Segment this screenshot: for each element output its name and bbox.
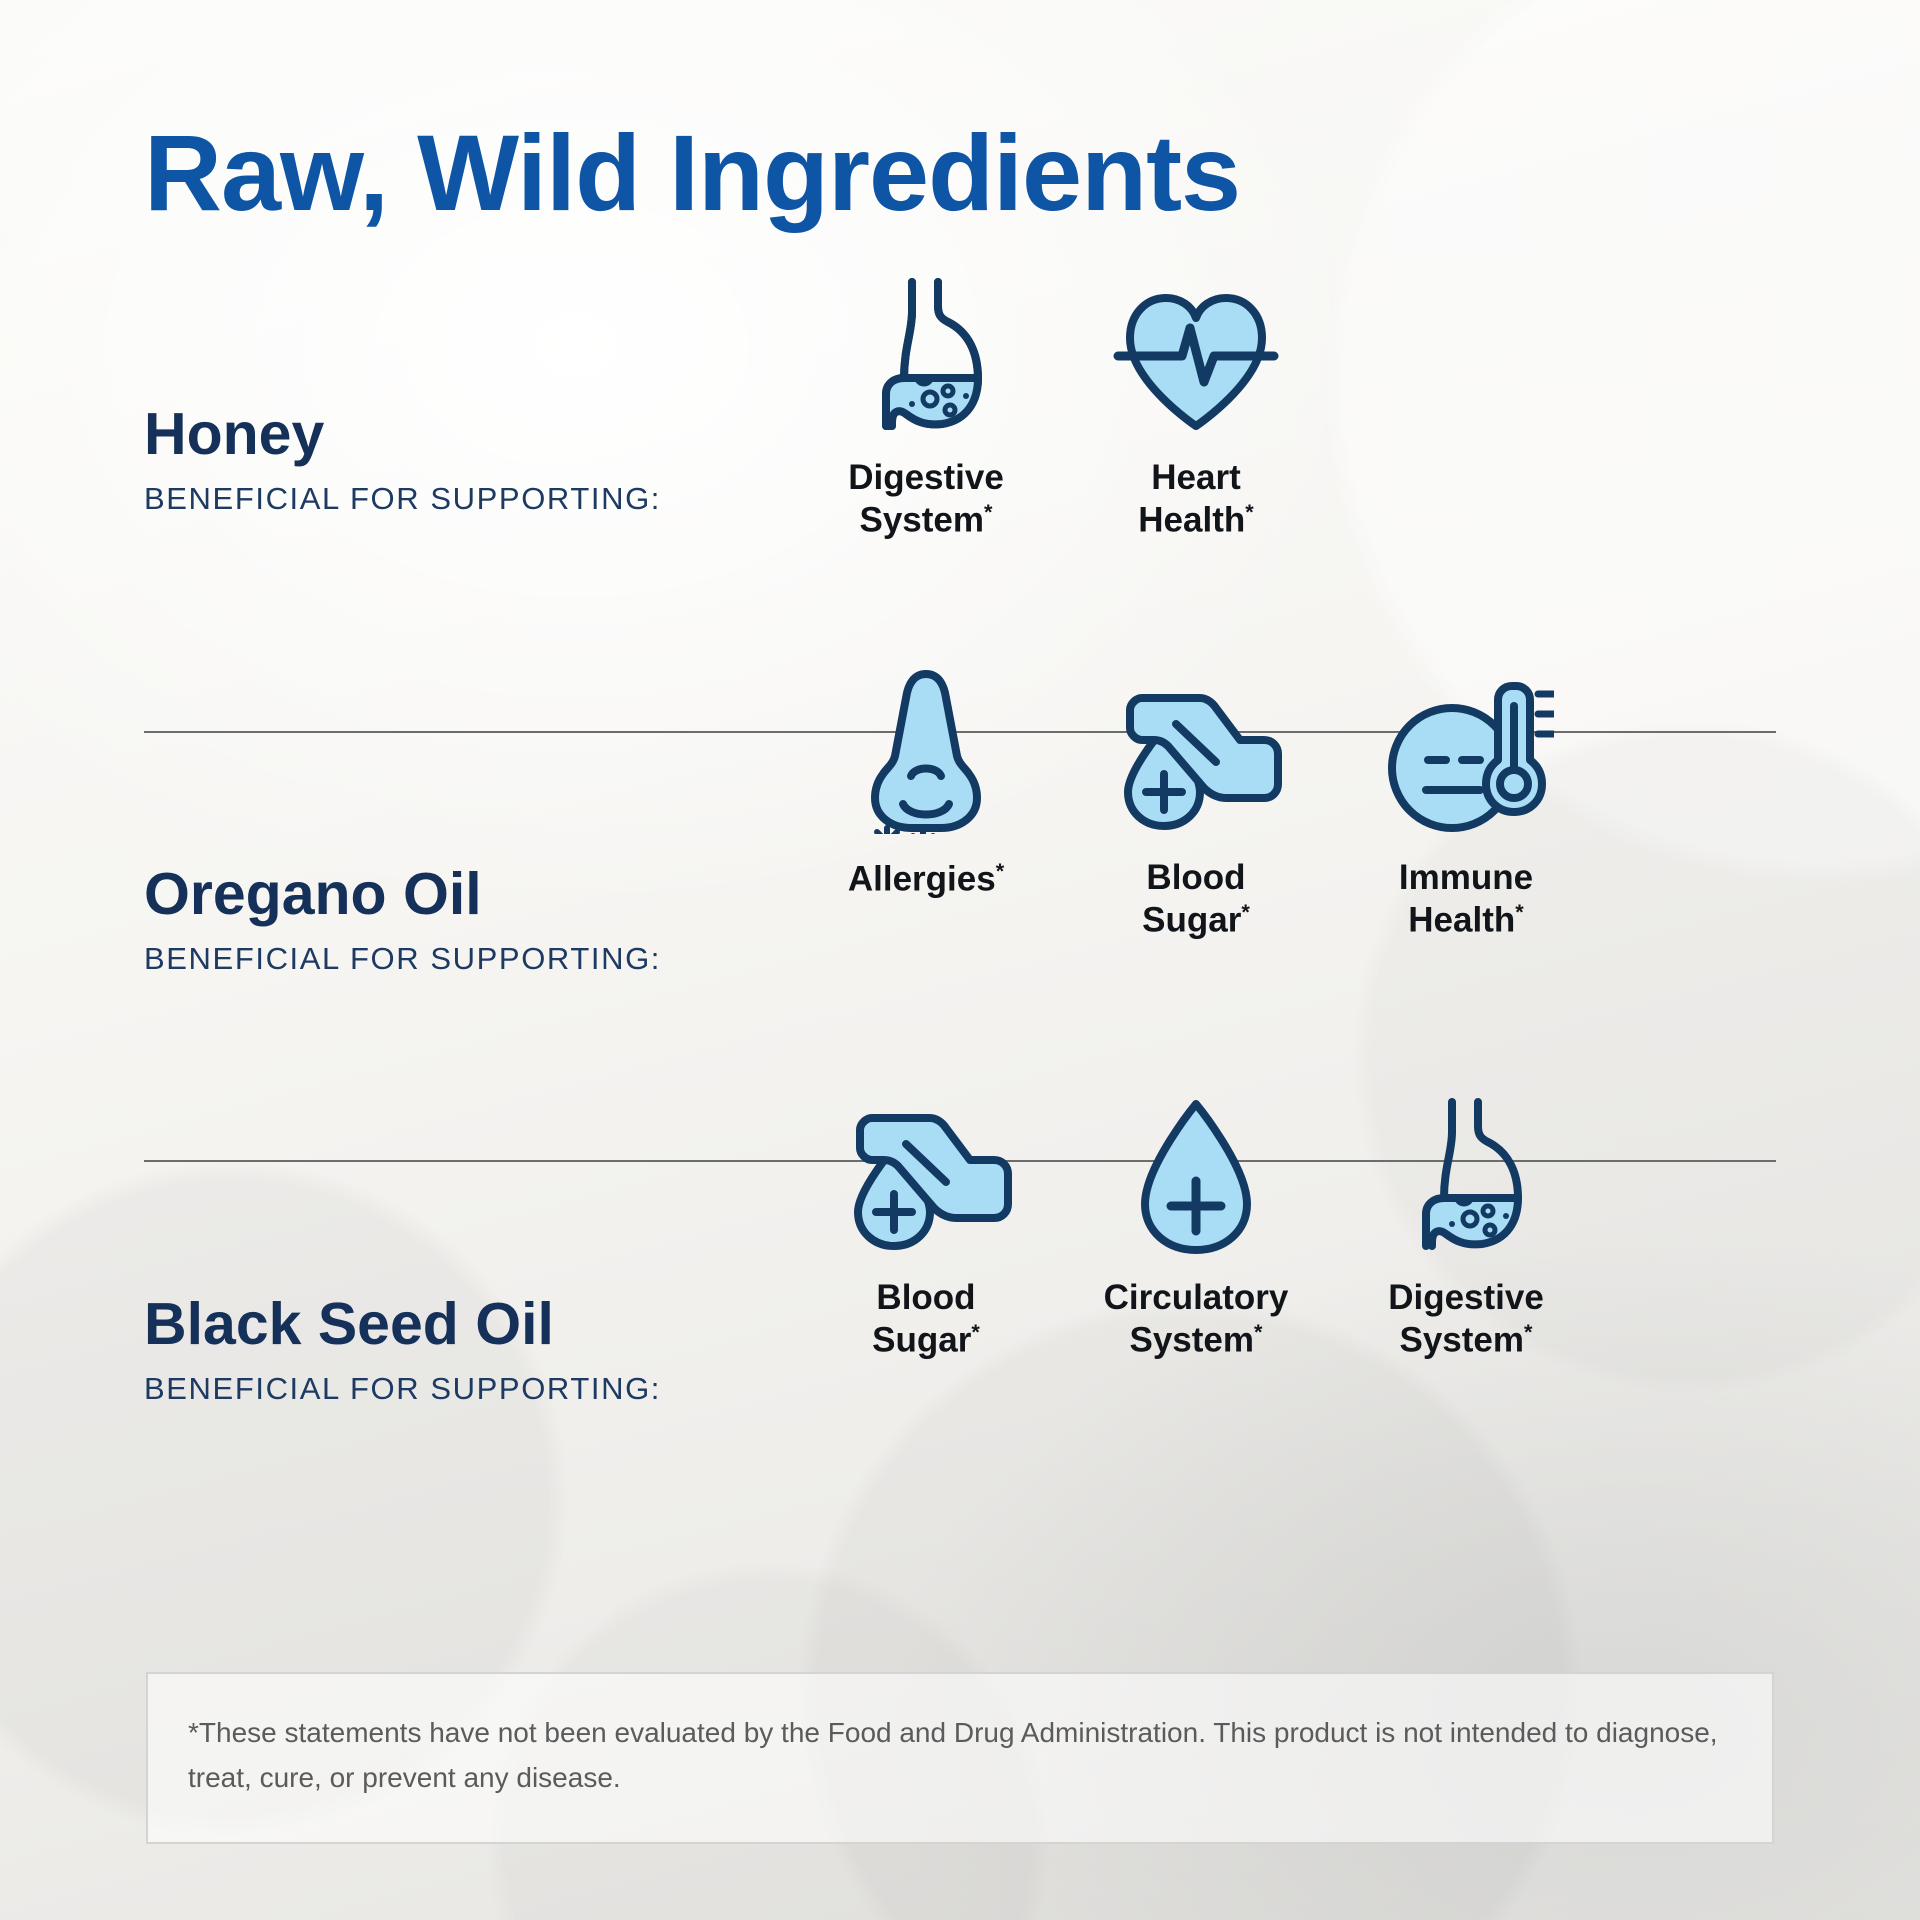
ingredient-subtitle-honey: BENEFICIAL FOR SUPPORTING:	[144, 481, 661, 517]
benefit-label: Digestive System*	[1388, 1278, 1544, 1361]
benefit-icons-black-seed-oil: Blood Sugar* Circulatory System*	[820, 1104, 1572, 1361]
heart-pulse-icon	[1112, 284, 1280, 434]
sick-face-thermometer-icon	[1378, 684, 1554, 834]
disclaimer-text: *These statements have not been evaluate…	[188, 1710, 1732, 1801]
benefit-icons-oregano-oil: Allergies* Blood Sugar*	[820, 684, 1572, 941]
stomach-icon	[856, 284, 996, 434]
disclaimer-box: *These statements have not been evaluate…	[146, 1672, 1774, 1844]
benefit-allergies: Allergies*	[820, 684, 1032, 900]
infographic-page: Raw, Wild Ingredients Honey BENEFICIAL F…	[0, 0, 1920, 1920]
ingredient-name-honey: Honey	[144, 402, 661, 467]
benefit-blood-sugar: Blood Sugar*	[820, 1104, 1032, 1361]
ingredient-block-oregano-oil: Oregano Oil BENEFICIAL FOR SUPPORTING:	[144, 862, 661, 977]
benefit-label: Heart Health*	[1138, 458, 1253, 541]
benefit-digestive-system: Digestive System*	[820, 284, 1032, 541]
benefit-label: Allergies*	[848, 858, 1004, 900]
ingredient-block-honey: Honey BENEFICIAL FOR SUPPORTING:	[144, 402, 661, 517]
blood-drop-plus-icon	[1131, 1104, 1261, 1254]
ingredient-subtitle-oregano-oil: BENEFICIAL FOR SUPPORTING:	[144, 941, 661, 977]
ingredient-name-black-seed-oil: Black Seed Oil	[144, 1292, 661, 1357]
benefit-circulatory-system: Circulatory System*	[1090, 1104, 1302, 1361]
blood-drop-hand-icon	[836, 1104, 1016, 1254]
ingredient-subtitle-black-seed-oil: BENEFICIAL FOR SUPPORTING:	[144, 1371, 661, 1407]
benefit-digestive-system: Digestive System*	[1360, 1104, 1572, 1361]
page-title: Raw, Wild Ingredients	[144, 116, 1240, 229]
benefit-label: Blood Sugar*	[872, 1278, 980, 1361]
benefit-heart-health: Heart Health*	[1090, 284, 1302, 541]
benefit-immune-health: Immune Health*	[1360, 684, 1572, 941]
benefit-icons-honey: Digestive System* Heart Health*	[820, 284, 1302, 541]
benefit-label: Immune Health*	[1399, 858, 1533, 941]
benefit-label: Circulatory System*	[1104, 1278, 1289, 1361]
stomach-icon	[1396, 1104, 1536, 1254]
benefit-blood-sugar: Blood Sugar*	[1090, 684, 1302, 941]
ingredient-block-black-seed-oil: Black Seed Oil BENEFICIAL FOR SUPPORTING…	[144, 1292, 661, 1407]
nose-sneeze-icon	[851, 684, 1001, 834]
benefit-label: Blood Sugar*	[1142, 858, 1250, 941]
ingredient-name-oregano-oil: Oregano Oil	[144, 862, 661, 927]
blood-drop-hand-icon	[1106, 684, 1286, 834]
benefit-label: Digestive System*	[848, 458, 1004, 541]
